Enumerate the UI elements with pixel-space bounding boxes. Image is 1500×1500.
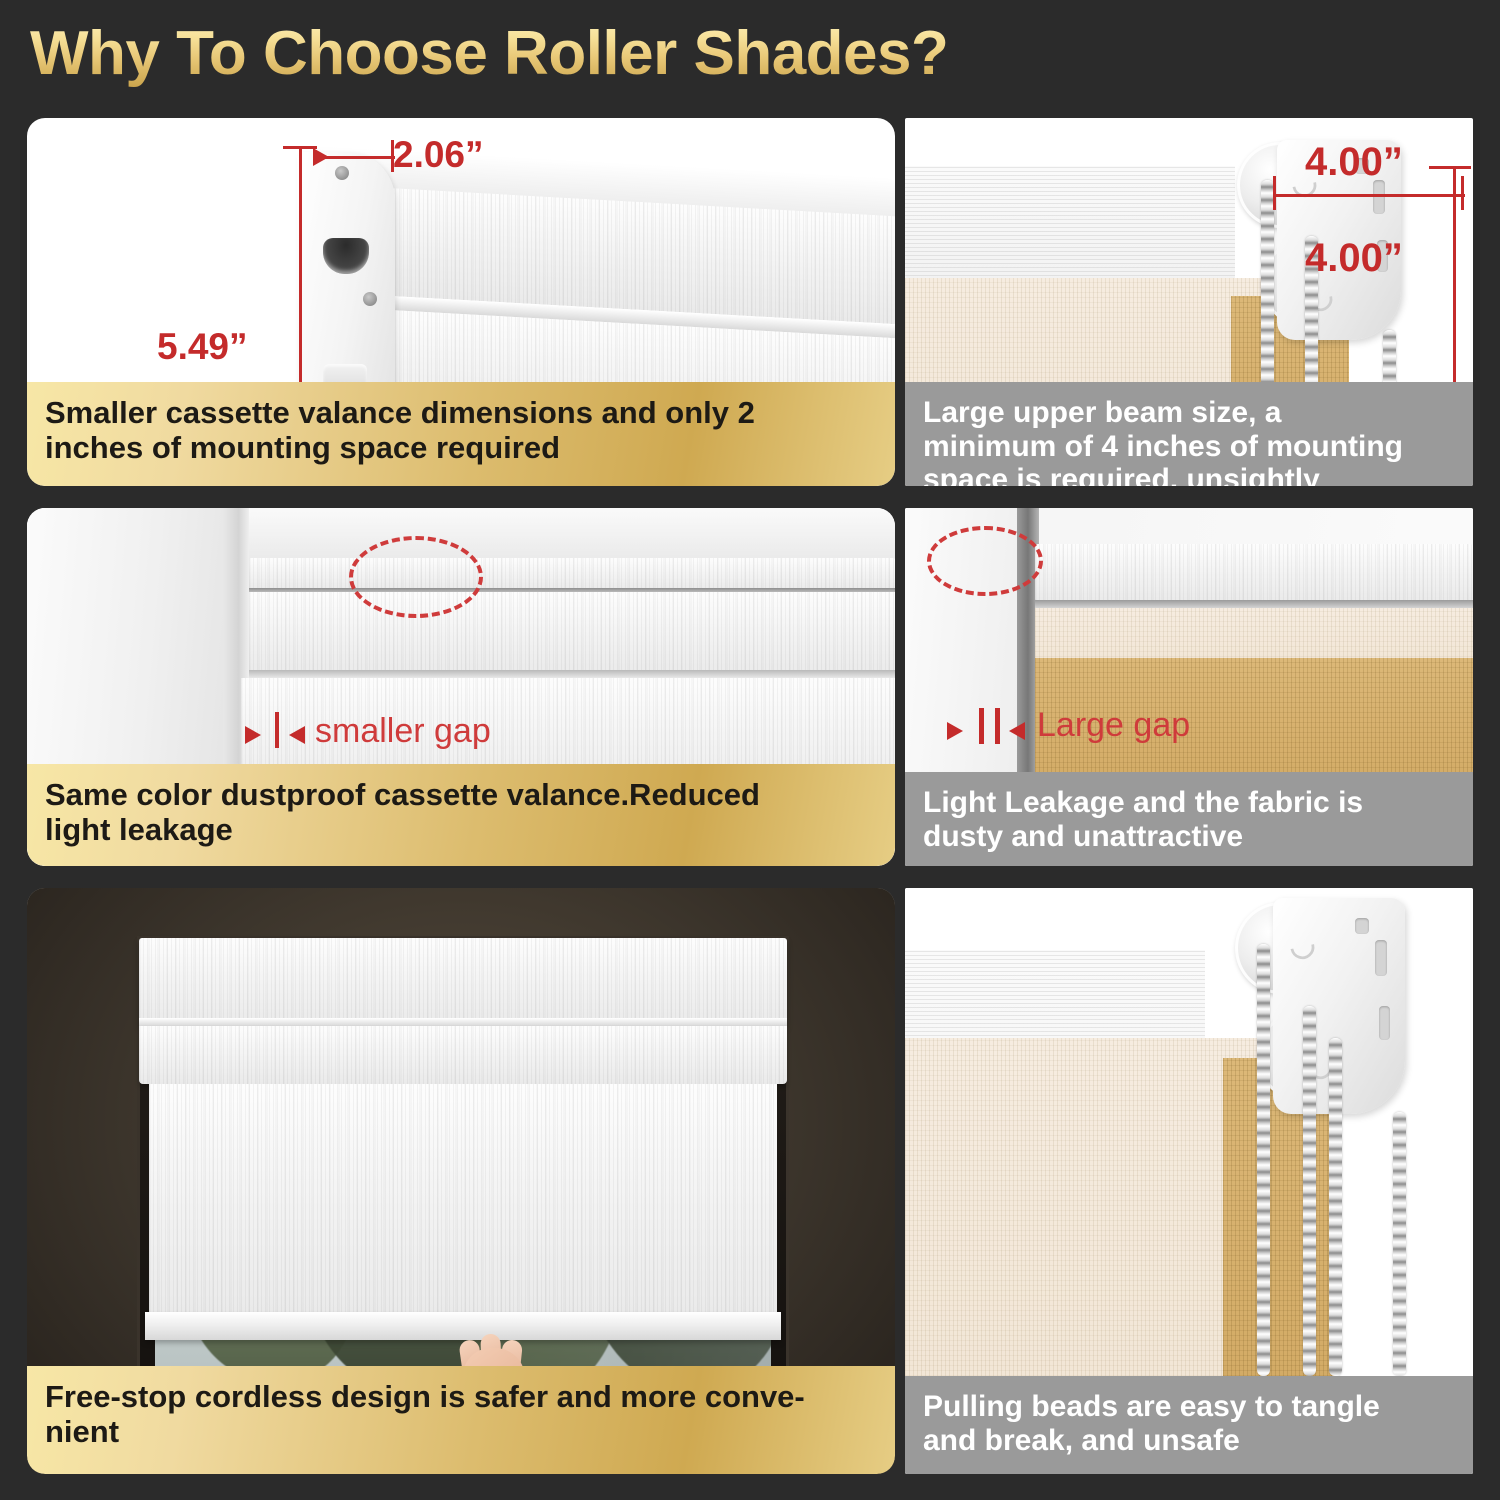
dim-tick-right: [1461, 176, 1464, 210]
dimension-height-label: 5.49”: [157, 326, 248, 368]
page-title: Why To Choose Roller Shades?: [30, 18, 948, 89]
caption-panel-2: Large upper beam size, a minimum of 4 in…: [905, 382, 1473, 486]
caption-panel-5: Free-stop cordless design is safer and m…: [27, 1366, 895, 1474]
caption-line: Light Leakage and the fabric is: [923, 786, 1455, 820]
dim-arrow-left: [313, 148, 329, 166]
caption-line: and break, and unsafe: [923, 1424, 1455, 1458]
caption-panel-1: Smaller cassette valance dimensions and …: [27, 382, 895, 486]
bracket-slot: [1355, 918, 1369, 934]
caption-panel-3: Same color dustproof cassette valance.Re…: [27, 764, 895, 866]
bracket-slot: [1375, 940, 1387, 976]
bracket-slot: [1379, 1006, 1390, 1040]
shade-fabric: [149, 1084, 777, 1314]
gap-edge-marker: [979, 708, 984, 744]
caption-line: minimum of 4 inches of mounting: [923, 430, 1455, 464]
valance-end-cap: [297, 152, 395, 420]
bracket-emboss-icon: ◡: [1286, 926, 1319, 966]
caption-line: dusty and unattractive: [923, 820, 1455, 854]
dim-cap-top: [283, 146, 317, 149]
gap-arrow-right: [1009, 722, 1025, 740]
roller-slot: [323, 238, 369, 274]
dim-line-width: [319, 156, 395, 159]
caption-line: space is required, unsightly: [923, 463, 1455, 486]
gap-highlight-ring: [349, 536, 483, 618]
beige-fabric: [1035, 608, 1473, 662]
screw-icon: [363, 292, 377, 306]
cassette-valance: [249, 558, 895, 592]
caption-line: light leakage: [45, 813, 877, 848]
gap-label: Large gap: [1037, 706, 1190, 745]
tube-shadow-line: [1035, 600, 1473, 608]
gap-arrow-right: [289, 726, 305, 744]
caption-line: nient: [45, 1415, 877, 1450]
gap-edge-marker: [275, 712, 279, 748]
valance-lower-face: [139, 1026, 787, 1084]
valance-face: [249, 592, 895, 676]
bead-chain: [1329, 1038, 1342, 1376]
gap-edge-marker: [995, 708, 1000, 744]
caption-line: Free-stop cordless design is safer and m…: [45, 1380, 877, 1415]
bead-chain: [1303, 1006, 1316, 1376]
bracket-slot: [1373, 180, 1385, 214]
caption-line: Same color dustproof cassette valance.Re…: [45, 778, 877, 813]
gap-arrow-left: [947, 722, 963, 740]
screw-icon: [335, 166, 349, 180]
caption-line: Smaller cassette valance dimensions and …: [45, 396, 877, 431]
panel-large-gap: Large gap Light Leakage and the fabric i…: [905, 508, 1473, 866]
caption-line: Pulling beads are easy to tangle: [923, 1390, 1455, 1424]
caption-panel-4: Light Leakage and the fabric is dusty an…: [905, 772, 1473, 866]
bead-chain: [1393, 1112, 1406, 1376]
caption-panel-6: Pulling beads are easy to tangle and bre…: [905, 1376, 1473, 1474]
dimension-height-label: 4.00”: [1305, 236, 1403, 281]
panel-cordless-design: Free-stop cordless design is safer and m…: [27, 888, 895, 1474]
dim-tick-left: [1273, 176, 1276, 210]
panel-pulling-beads: ◡ ◡ Pulling beads are easy to tangle and…: [905, 888, 1473, 1474]
valance-lower-edge: [249, 670, 895, 678]
panel-smaller-cassette: 2.06” 5.49” Smaller cassette valance dim…: [27, 118, 895, 486]
caption-line: inches of mounting space required: [45, 431, 877, 466]
infographic-root: Why To Choose Roller Shades? 2.06”: [0, 0, 1500, 1500]
panel-smaller-gap: smaller gap Same color dustproof cassett…: [27, 508, 895, 866]
dimension-width-label: 2.06”: [393, 134, 484, 176]
dimension-width-label: 4.00”: [1305, 140, 1403, 185]
gap-arrow-left: [245, 726, 261, 744]
bead-chain: [1257, 944, 1270, 1376]
panel-large-upper-beam: ◡ ◡ 4.00” 4.00” Large upper beam size, a…: [905, 118, 1473, 486]
cassette-valance: [139, 938, 787, 1026]
roller-tube-cover: [1035, 544, 1473, 602]
caption-line: Large upper beam size, a: [923, 396, 1455, 430]
dim-line-width: [1275, 194, 1465, 197]
gap-label: smaller gap: [315, 712, 491, 751]
dim-cap-top: [1429, 166, 1471, 169]
gap-highlight-ring: [927, 526, 1043, 596]
